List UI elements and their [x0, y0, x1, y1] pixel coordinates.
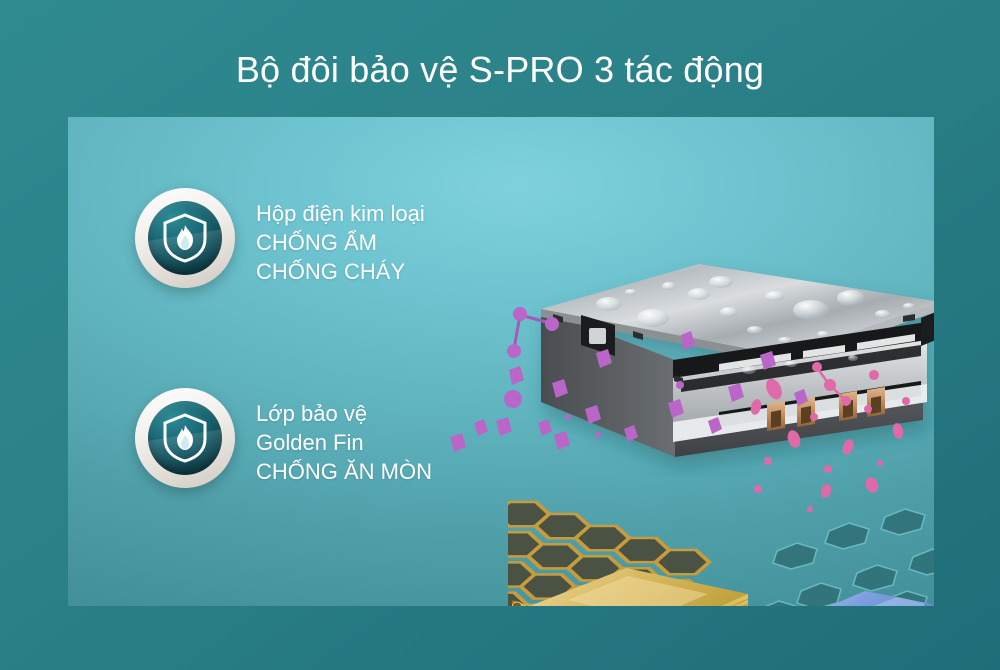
page-title: Bộ đôi bảo vệ S-PRO 3 tác động — [0, 48, 1000, 92]
feature-line-2: CHỐNG ẨM — [256, 228, 425, 257]
badge-gold-ring — [143, 396, 227, 480]
feature-line-2: Golden Fin — [256, 428, 432, 457]
badge-teal-disc — [148, 401, 222, 475]
golden-fin-illustration — [508, 482, 768, 606]
feature-text-moisture-fire: Hộp điện kim loại CHỐNG ẨM CHỐNG CHÁY — [256, 199, 425, 286]
feature-line-1: Lớp bảo vệ — [256, 399, 432, 428]
badge-teal-disc — [148, 201, 222, 275]
shield-flame-icon — [162, 213, 208, 263]
badge-moisture-fire[interactable] — [135, 188, 235, 288]
badge-corrosion[interactable] — [135, 388, 235, 488]
shield-flame-icon — [162, 413, 208, 463]
metal-electrical-box-illustration — [523, 252, 934, 477]
blue-fin-illustration — [753, 487, 934, 606]
feature-line-3: CHỐNG ĂN MÒN — [256, 457, 432, 486]
feature-text-corrosion: Lớp bảo vệ Golden Fin CHỐNG ĂN MÒN — [256, 399, 432, 486]
broken-coating-fragments — [755, 501, 934, 606]
feature-line-1: Hộp điện kim loại — [256, 199, 425, 228]
badge-gold-ring — [143, 196, 227, 280]
feature-line-3: CHỐNG CHÁY — [256, 257, 425, 286]
illustration-panel: Hộp điện kim loại CHỐNG ẨM CHỐNG CHÁY Lớ… — [68, 117, 934, 606]
